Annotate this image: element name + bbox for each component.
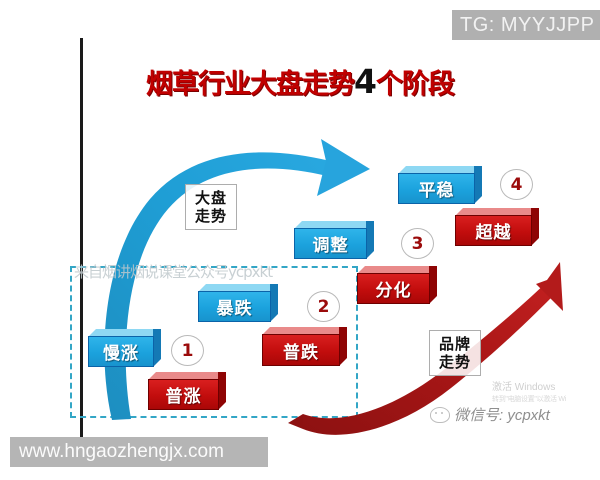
callout-market-trend-line2: 走势	[192, 207, 230, 225]
stage-box-side-bevel	[218, 372, 226, 410]
slide-canvas: 烟草行业大盘走势4个阶段	[0, 0, 600, 480]
stage-box-side-bevel	[474, 166, 482, 204]
stage-box-label: 慢涨	[88, 336, 154, 367]
step-number-4: 4	[500, 169, 533, 200]
stage-box-6[interactable]: 分化	[357, 266, 437, 304]
stage-box-label: 调整	[294, 228, 367, 259]
stage-box-1[interactable]: 慢涨	[88, 329, 161, 367]
stage-box-7[interactable]: 平稳	[398, 166, 482, 204]
step-number-1: 1	[171, 335, 204, 366]
wechat-icon	[430, 407, 450, 423]
callout-brand-trend: 品牌 走势	[429, 330, 481, 376]
stage-box-side-bevel	[366, 221, 374, 259]
center-faint-watermark: 来自烟讲烟说课堂公众号ycpxkt	[74, 261, 272, 282]
site-url-watermark: www.hngaozhengjx.com	[10, 437, 268, 467]
callout-market-trend: 大盘 走势	[185, 184, 237, 230]
stage-box-label: 平稳	[398, 173, 475, 204]
callout-market-trend-line1: 大盘	[192, 189, 230, 207]
stage-box-label: 超越	[455, 215, 532, 246]
wechat-label: 微信号: ycpxkt	[454, 404, 550, 425]
stage-box-side-bevel	[270, 284, 278, 322]
stage-box-label: 分化	[357, 273, 430, 304]
title-prefix: 烟草行业大盘走势	[146, 69, 354, 100]
callout-brand-trend-line2: 走势	[436, 353, 474, 371]
callout-brand-trend-line1: 品牌	[436, 335, 474, 353]
stage-box-label: 暴跌	[198, 291, 271, 322]
windows-activation-watermark: 激活 Windows 转到"电脑设置"以激活 Wi	[492, 382, 566, 406]
stage-box-label: 普跌	[262, 334, 340, 366]
title-suffix: 个阶段	[376, 69, 454, 100]
stage-box-side-bevel	[339, 327, 347, 366]
windows-activation-title: 激活 Windows	[492, 382, 566, 394]
wechat-watermark: 微信号: ycpxkt	[430, 404, 550, 425]
stage-box-side-bevel	[153, 329, 161, 367]
title-number: 4	[354, 62, 376, 101]
stage-box-side-bevel	[531, 208, 539, 246]
stage-box-label: 普涨	[148, 379, 219, 410]
stage-box-5[interactable]: 调整	[294, 221, 374, 259]
stage-box-side-bevel	[429, 266, 437, 304]
page-title: 烟草行业大盘走势4个阶段	[0, 62, 600, 101]
telegram-watermark: TG: MYYJJPP	[452, 10, 600, 40]
step-number-3: 3	[401, 228, 434, 259]
step-number-2: 2	[307, 291, 340, 322]
stage-box-8[interactable]: 超越	[455, 208, 539, 246]
stage-box-2[interactable]: 普涨	[148, 372, 226, 410]
stage-box-4[interactable]: 普跌	[262, 327, 347, 366]
stage-box-3[interactable]: 暴跌	[198, 284, 278, 322]
